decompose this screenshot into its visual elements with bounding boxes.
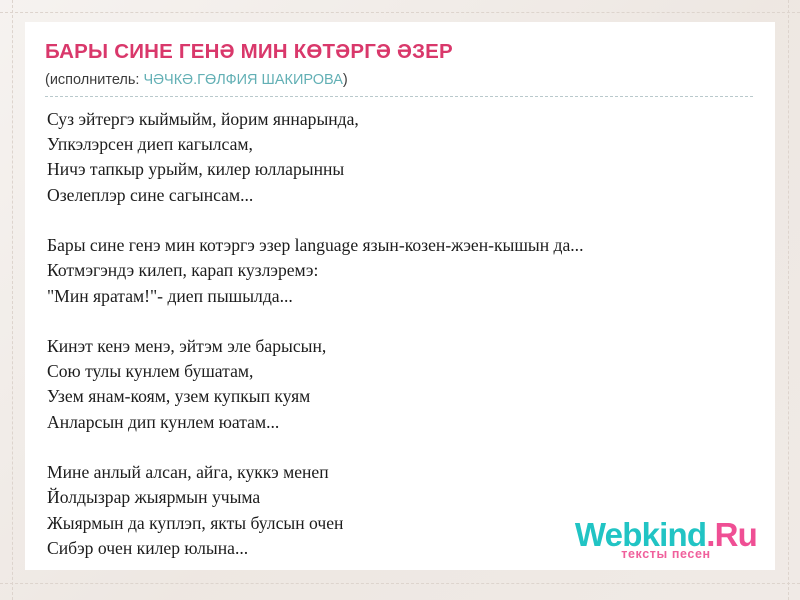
lyric-line: Бары сине генэ мин котэргэ эзер language… (47, 233, 755, 258)
lyric-line: Озелеплэр сине сагынсам... (47, 183, 755, 208)
lyric-line: Котмэгэндэ килеп, карап кузлэремэ: (47, 258, 755, 283)
lyric-line: Анларсын дип кунлем юатам... (47, 410, 755, 435)
lyric-line: Сою тулы кунлем бушатам, (47, 359, 755, 384)
lyric-line: Суз эйтергэ кыймыйм, йорим яннарында, (47, 107, 755, 132)
lyric-line: Упкэлэрсен диеп кагылсам, (47, 132, 755, 157)
song-header: БАРЫ СИНЕ ГЕНӘ МИН КӨТӘРГӘ ӘЗЕР (исполни… (25, 40, 775, 96)
performer-link[interactable]: ЧӘЧКӘ.ГӨЛФИЯ ШАКИРОВА (143, 72, 342, 88)
lyric-line: Ничэ тапкыр урыйм, килер юлларынны (47, 157, 755, 182)
logo-wordmark: Webkind.Ru (575, 518, 757, 551)
lyric-line: Узем янам-коям, узем купкып куям (47, 384, 755, 409)
lyric-stanza: Суз эйтергэ кыймыйм, йорим яннарында, Уп… (47, 107, 755, 208)
performer-label: (исполнитель: (45, 72, 139, 88)
performer-line: (исполнитель: ЧӘЧКӘ.ГӨЛФИЯ ШАКИРОВА) (45, 71, 753, 96)
performer-close-paren: ) (343, 72, 348, 88)
logo-tld-text: .Ru (706, 516, 757, 553)
lyrics-slide-card: БАРЫ СИНЕ ГЕНӘ МИН КӨТӘРГӘ ӘЗЕР (исполни… (25, 22, 775, 570)
lyric-line: Мине анлый алсан, айга, куккэ менеп (47, 460, 755, 485)
webkind-logo[interactable]: Webkind.Ru тексты песен (575, 518, 757, 561)
lyric-stanza: Бары сине генэ мин котэргэ эзер language… (47, 233, 755, 309)
lyric-stanza: Кинэт кенэ менэ, эйтэм эле барысын, Сою … (47, 334, 755, 435)
lyric-line: "Мин яратам!"- диеп пышылда... (47, 284, 755, 309)
song-title: БАРЫ СИНЕ ГЕНӘ МИН КӨТӘРГӘ ӘЗЕР (45, 40, 753, 65)
lyric-line: Кинэт кенэ менэ, эйтэм эле барысын, (47, 334, 755, 359)
lyric-line: Йолдызрар жыярмын учыма (47, 485, 755, 510)
lyrics-body: Суз эйтергэ кыймыйм, йорим яннарында, Уп… (25, 97, 775, 561)
